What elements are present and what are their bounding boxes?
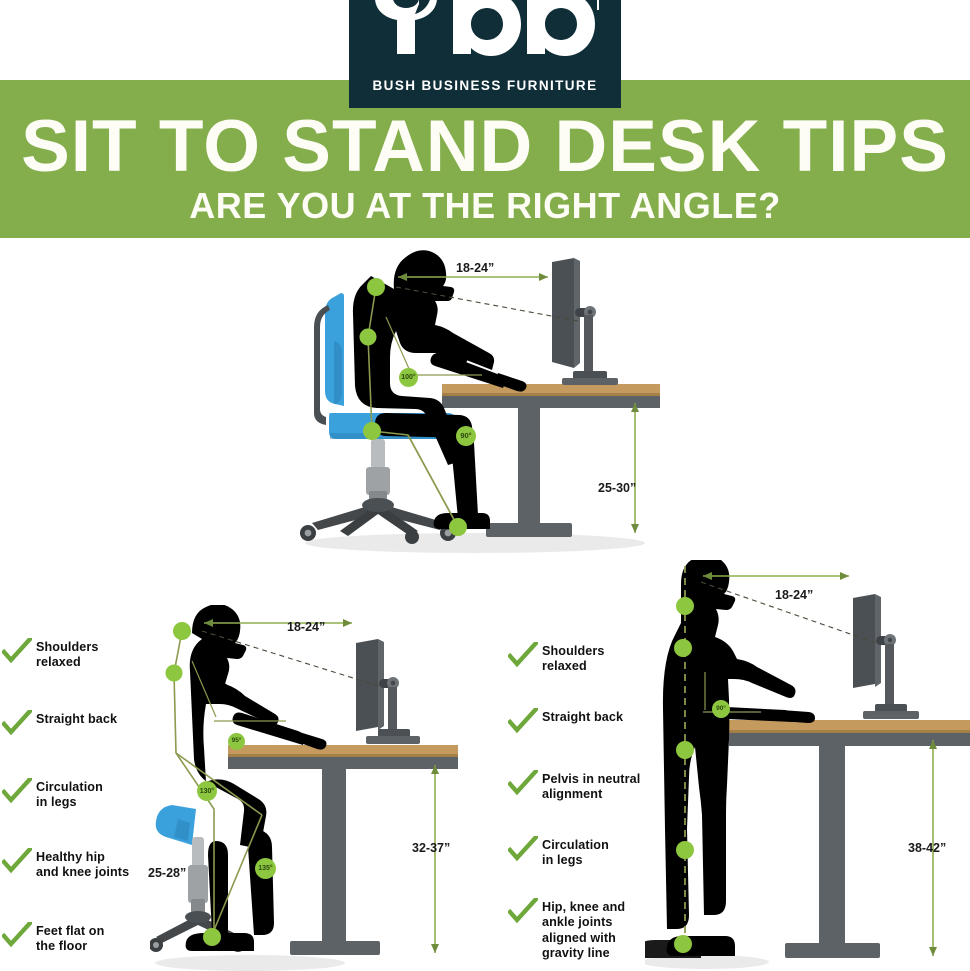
checklist-item: Straight back [508, 708, 623, 734]
checklist-item-label: Feet flat onthe floor [32, 922, 104, 955]
perched-monitor-distance-label: 18-24” [287, 620, 325, 634]
checklist-item: Healthy hipand knee joints [2, 848, 129, 881]
brand-tagline: BUSH BUSINESS FURNITURE [349, 78, 621, 93]
seated-checklist: ShouldersrelaxedStraight backCirculation… [2, 630, 152, 971]
checklist-item-label: Shouldersrelaxed [32, 638, 98, 671]
standing-elbow-angle-badge: 90° [712, 700, 730, 718]
checkmark-icon [508, 642, 538, 668]
checklist-item-label: Healthy hipand knee joints [32, 848, 129, 881]
seated-knee-angle-badge: 90° [456, 426, 476, 446]
checklist-item: Circulationin legs [2, 778, 103, 811]
perched-seat-height-label: 25-28” [148, 866, 186, 880]
checkmark-icon [2, 778, 32, 804]
checkmark-icon [508, 836, 538, 862]
checklist-item: Pelvis in neutralalignment [508, 770, 640, 803]
checklist-item: Feet flat onthe floor [2, 922, 104, 955]
checklist-item: Shouldersrelaxed [2, 638, 98, 671]
brand-logo-box: BUSH BUSINESS FURNITURE [349, 0, 621, 108]
bbf-logo-icon [371, 0, 599, 68]
checklist-item-label: Circulationin legs [538, 836, 609, 869]
checkmark-icon [2, 922, 32, 948]
seated-monitor-distance-label: 18-24” [456, 261, 494, 275]
standing-posture-figure [645, 560, 970, 971]
checkmark-icon [508, 708, 538, 734]
seated-desk-height-label: 25-30” [598, 481, 636, 495]
seated-posture-figure [290, 245, 680, 560]
page-subtitle: ARE YOU AT THE RIGHT ANGLE? [0, 188, 970, 224]
checklist-item-label: Straight back [538, 708, 623, 725]
checklist-item-label: Circulationin legs [32, 778, 103, 811]
checkmark-icon [508, 770, 538, 796]
checkmark-icon [2, 848, 32, 874]
checklist-item-label: Shouldersrelaxed [538, 642, 604, 675]
checklist-item-label: Straight back [32, 710, 117, 727]
checklist-item: Hip, knee andankle jointsaligned withgra… [508, 898, 625, 961]
checkmark-icon [2, 638, 32, 664]
infographic-page: SIT TO STAND DESK TIPS ARE YOU AT THE RI… [0, 0, 970, 971]
standing-desk-height-label: 38-42” [908, 841, 946, 855]
standing-monitor-distance-label: 18-24” [775, 588, 813, 602]
standing-checklist: ShouldersrelaxedStraight backPelvis in n… [508, 630, 658, 971]
perched-knee-angle-badge: 135° [255, 858, 276, 879]
perched-elbow-angle-badge: 95° [228, 733, 245, 750]
perched-desk-height-label: 32-37” [412, 841, 450, 855]
perched-hip-angle-badge: 130° [197, 781, 217, 801]
checklist-item: Straight back [2, 710, 117, 736]
seated-elbow-angle-badge: 100° [399, 368, 418, 387]
checklist-item: Shouldersrelaxed [508, 642, 604, 675]
checkmark-icon [2, 710, 32, 736]
checklist-item-label: Hip, knee andankle jointsaligned withgra… [538, 898, 625, 961]
checklist-item: Circulationin legs [508, 836, 609, 869]
checklist-item-label: Pelvis in neutralalignment [538, 770, 640, 803]
checkmark-icon [508, 898, 538, 924]
page-title: SIT TO STAND DESK TIPS [0, 110, 970, 183]
